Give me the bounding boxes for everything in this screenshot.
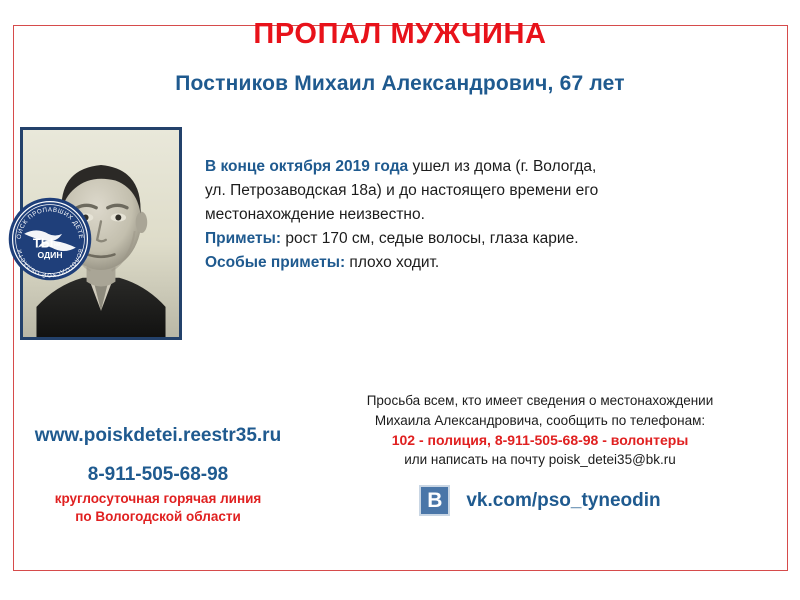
email-line[interactable]: или написать на почту poisk_detei35@bk.r…	[320, 450, 760, 470]
public-appeal-block: Просьба всем, кто имеет сведения о место…	[320, 391, 760, 470]
details-line-1: В конце октября 2019 года ушел из дома (…	[205, 155, 760, 179]
poster-headline: ПРОПАЛ МУЖЧИНА	[0, 18, 800, 51]
details-date-lead: В конце октября 2019 года	[205, 158, 408, 175]
hotline-note-line-1: круглосуточная горячая линия	[8, 490, 308, 508]
details-signs: Приметы: рост 170 см, седые волосы, глаз…	[205, 227, 760, 251]
hotline-description: круглосуточная горячая линия по Вологодс…	[8, 490, 308, 526]
special-signs-label: Особые приметы:	[205, 254, 345, 271]
case-details: В конце октября 2019 года ушел из дома (…	[205, 155, 760, 275]
details-line-2: ул. Петрозаводская 18а) и до настоящего …	[205, 179, 760, 203]
details-line-3: местонахождение неизвестно.	[205, 203, 760, 227]
signs-value: рост 170 см, седые волосы, глаза карие.	[281, 230, 579, 247]
missing-person-name: Постников Михаил Александрович, 67 лет	[0, 72, 800, 96]
seal-center-ty: ТЫ	[33, 236, 54, 251]
seal-center-ne: не	[54, 242, 61, 248]
organization-seal-logo: ПОИСК ПРОПАВШИХ ДЕТЕЙ ВОЛОГОДСКОЙ ОБЛАСТ…	[7, 196, 93, 282]
vk-contact-row[interactable]: B vk.com/pso_tyneodin	[320, 485, 760, 516]
appeal-line-1: Просьба всем, кто имеет сведения о место…	[320, 391, 760, 411]
special-signs-value: плохо ходит.	[345, 254, 439, 271]
website-url-link[interactable]: www.poiskdetei.reestr35.ru	[8, 425, 308, 447]
seal-center-odin: ОДИН	[37, 250, 62, 260]
appeal-line-2: Михаила Александровича, сообщить по теле…	[320, 411, 760, 431]
emergency-phones-line[interactable]: 102 - полиция, 8-911-505-68-98 - волонте…	[320, 430, 760, 450]
details-special-signs: Особые приметы: плохо ходит.	[205, 251, 760, 275]
vk-icon[interactable]: B	[419, 485, 450, 516]
hotline-note-line-2: по Вологодской области	[8, 508, 308, 526]
vk-handle-link[interactable]: vk.com/pso_tyneodin	[466, 490, 660, 512]
signs-label: Приметы:	[205, 230, 281, 247]
hotline-phone-number[interactable]: 8-911-505-68-98	[8, 464, 308, 486]
details-line-1-rest: ушел из дома (г. Вологда,	[408, 158, 596, 175]
